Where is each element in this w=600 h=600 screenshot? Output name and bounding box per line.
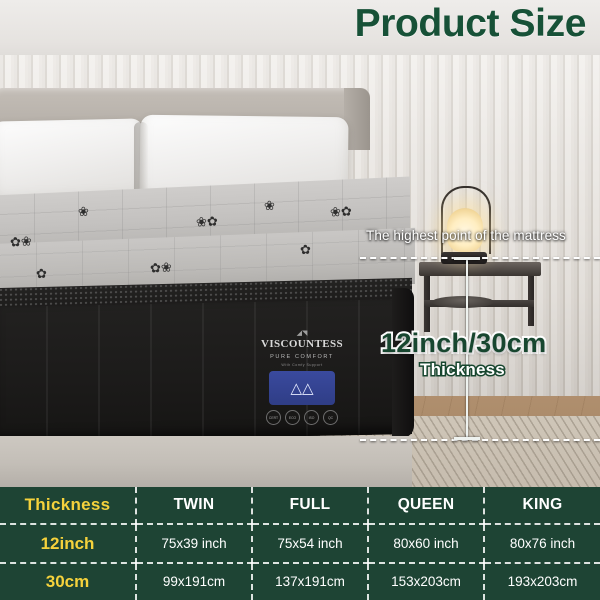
product-size-infographic: ✿❀ ❀ ✿❀ ❀✿ ❀ ✿ ❀✿ ✿ ◢◥ VISCOUNTESS PURE … <box>0 0 600 600</box>
row-header-12inch: 12inch <box>0 524 136 563</box>
brand-subtagline: With Comfy Support <box>248 363 356 367</box>
page-title: Product Size <box>355 2 586 46</box>
mattress-motif: ✿ <box>36 268 48 282</box>
table-header-row: Thickness TWIN FULL QUEEN KING <box>0 487 600 524</box>
brand-certification-icons: CERT ECO ISO QC <box>248 410 356 425</box>
thickness-value-label: 12inch/30cm <box>381 328 546 359</box>
row-header-30cm: 30cm <box>0 563 136 600</box>
dimension-cap-top <box>454 257 480 260</box>
cell-12inch-king: 80x76 inch <box>484 524 600 563</box>
mattress-motif: ✿❀ <box>150 261 172 275</box>
mattress-motif: ❀ <box>78 206 90 220</box>
mattress-motif: ❀ <box>264 200 276 214</box>
column-header-full: FULL <box>252 487 368 524</box>
certification-icon: QC <box>323 410 338 425</box>
support-lines-icon: △△ <box>290 381 313 396</box>
column-header-twin: TWIN <box>136 487 252 524</box>
dimension-cap-bottom <box>454 437 480 440</box>
brand-tagline: PURE COMFORT <box>248 354 356 360</box>
bottom-measure-dashed-line <box>360 439 600 441</box>
mattress-motif: ✿ <box>300 244 312 258</box>
brand-name: VISCOUNTESS <box>248 338 356 350</box>
brand-logo-icon: ◢◥ <box>248 330 356 338</box>
bedroom-scene: ✿❀ ❀ ✿❀ ❀✿ ❀ ✿ ❀✿ ✿ ◢◥ VISCOUNTESS PURE … <box>0 0 600 487</box>
mattress-motif: ❀✿ <box>330 205 352 219</box>
certification-icon: ECO <box>285 410 300 425</box>
certification-icon: ISO <box>304 410 319 425</box>
nightstand-object <box>432 296 494 308</box>
highest-point-label: The highest point of the mattress <box>366 228 566 243</box>
nightstand-top <box>419 262 541 276</box>
cell-30cm-king: 193x203cm <box>484 563 600 600</box>
brand-label: ◢◥ VISCOUNTESS PURE COMFORT With Comfy S… <box>248 330 356 430</box>
mattress-motif: ✿❀ <box>10 235 32 249</box>
column-header-king: KING <box>484 487 600 524</box>
table-corner-header: Thickness <box>0 487 136 524</box>
brand-badge: △△ <box>269 371 335 405</box>
cell-12inch-twin: 75x39 inch <box>136 524 252 563</box>
table-row: 30cm 99x191cm 137x191cm 153x203cm 193x20… <box>0 563 600 600</box>
mattress-motif: ❀✿ <box>196 215 218 229</box>
cell-12inch-queen: 80x60 inch <box>368 524 484 563</box>
cell-30cm-twin: 99x191cm <box>136 563 252 600</box>
cell-30cm-queen: 153x203cm <box>368 563 484 600</box>
thickness-caption-label: Thickness <box>420 360 505 380</box>
bed-base <box>0 436 412 487</box>
cell-30cm-full: 137x191cm <box>252 563 368 600</box>
column-header-queen: QUEEN <box>368 487 484 524</box>
certification-icon: CERT <box>266 410 281 425</box>
size-table: Thickness TWIN FULL QUEEN KING 12inch 75… <box>0 487 600 600</box>
cell-12inch-full: 75x54 inch <box>252 524 368 563</box>
top-measure-dashed-line <box>360 257 600 259</box>
table-row: 12inch 75x39 inch 75x54 inch 80x60 inch … <box>0 524 600 563</box>
size-table-panel: Thickness TWIN FULL QUEEN KING 12inch 75… <box>0 487 600 600</box>
mattress-corner <box>392 288 414 438</box>
